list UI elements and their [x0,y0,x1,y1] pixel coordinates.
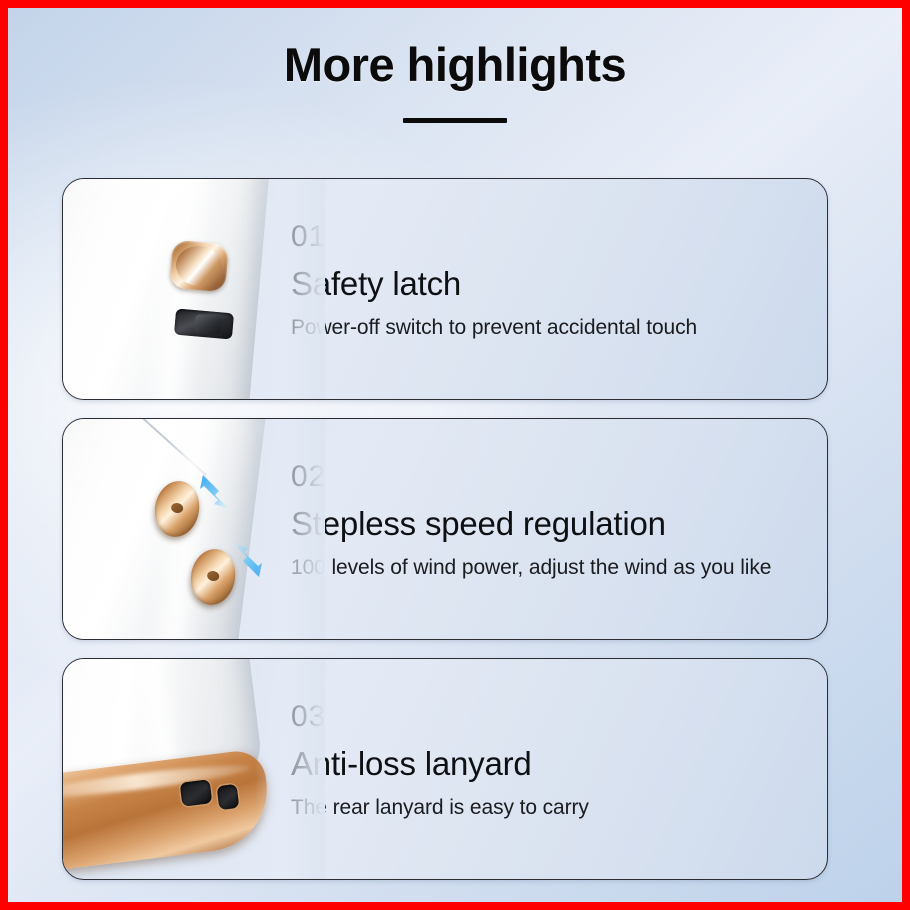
card-text-1: 01 Safety latch Power-off switch to prev… [291,179,821,399]
card-description: Power-off switch to prevent accidental t… [291,313,697,343]
lanyard-hole-icon [180,779,213,806]
lanyard-hole-icon [217,784,240,810]
infographic-frame: More highlights 01 Safety latch Power-of… [8,8,902,902]
gold-power-button-icon [169,240,229,293]
photo-fade [255,419,325,639]
arrow-up-icon [193,469,233,513]
card-text-3: 03 Anti-loss lanyard The rear lanyard is… [291,659,821,879]
card-description: 100 levels of wind power, adjust the win… [291,553,771,583]
card-text-2: 02 Stepless speed regulation 100 levels … [291,419,821,639]
title-underline [403,118,507,123]
product-photo-speed-regulation [63,419,325,639]
card-title: Stepless speed regulation [291,503,666,545]
gold-button-inner [174,244,223,288]
product-photo-lanyard [63,659,325,879]
highlight-card-2[interactable]: 02 Stepless speed regulation 100 levels … [62,418,828,640]
header: More highlights [8,8,902,158]
product-photo-safety-latch [63,179,325,399]
photo-fade [255,179,325,399]
power-off-switch-icon [174,309,234,340]
switch-knob [194,314,221,334]
page-title: More highlights [8,34,902,96]
card-title: Anti-loss lanyard [291,743,532,785]
photo-fade [255,659,325,879]
highlight-card-1[interactable]: 01 Safety latch Power-off switch to prev… [62,178,828,400]
card-description: The rear lanyard is easy to carry [291,793,589,823]
highlight-card-3[interactable]: 03 Anti-loss lanyard The rear lanyard is… [62,658,828,880]
